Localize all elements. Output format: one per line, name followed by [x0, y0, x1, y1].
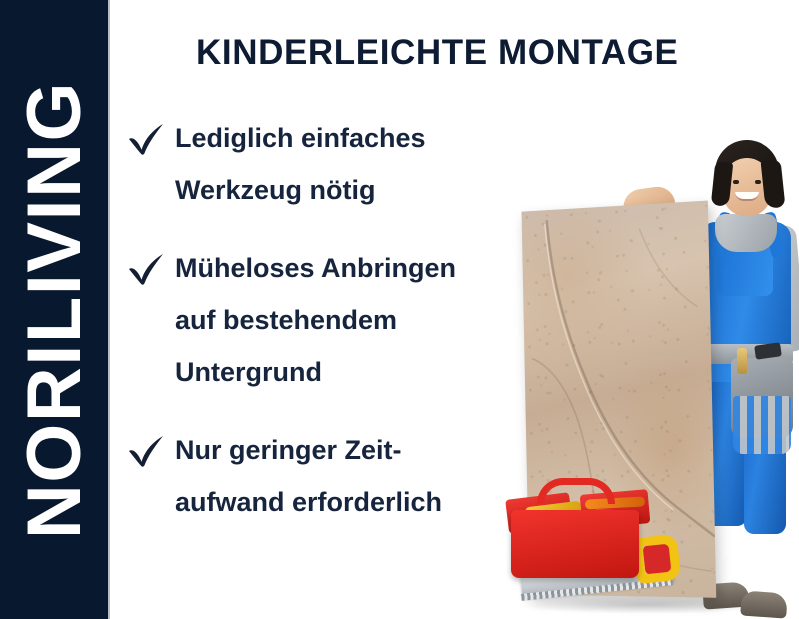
list-item-text: Lediglich einfaches Werkzeug nötig [168, 112, 484, 216]
feature-list: Lediglich einfaches Werkzeug nötig Mühel… [124, 112, 484, 554]
toolbox-handle [537, 478, 615, 504]
tool-pouch-stripes [733, 396, 791, 454]
brand-name-vertical: NORILIVING [17, 80, 93, 538]
list-item-text: Müheloses Anbringen auf bestehendem Unte… [168, 242, 484, 398]
list-item-line: Untergrund [175, 346, 484, 398]
product-photo [495, 96, 799, 619]
list-item-line: Lediglich einfaches [175, 112, 484, 164]
list-item-line: Werkzeug nötig [175, 164, 484, 216]
eye [755, 180, 761, 184]
shirt-collar [715, 214, 777, 252]
eye [733, 180, 739, 184]
list-item: Nur geringer Zeit- aufwand erforderlich [124, 424, 484, 528]
list-item-line: aufwand erforderlich [175, 476, 484, 528]
red-toolbox [511, 510, 639, 578]
list-item-text: Nur geringer Zeit- aufwand erforderlich [168, 424, 484, 528]
list-item-line: Müheloses Anbringen [175, 242, 484, 294]
list-item: Müheloses Anbringen auf bestehendem Unte… [124, 242, 484, 398]
hand-saw-handle [633, 534, 682, 584]
brand-sidebar-inner: NORILIVING [0, 0, 110, 619]
checkmark-icon [124, 116, 168, 160]
tool-set [507, 464, 697, 619]
brand-sidebar: NORILIVING [0, 0, 110, 619]
list-item-line: auf bestehendem [175, 294, 484, 346]
list-item: Lediglich einfaches Werkzeug nötig [124, 112, 484, 216]
promo-banner: NORILIVING KINDERLEICHTE MONTAGE Ledigli… [0, 0, 799, 619]
checkmark-icon [124, 428, 168, 472]
checkmark-icon [124, 246, 168, 290]
list-item-line: Nur geringer Zeit- [175, 424, 484, 476]
belt-tool [737, 348, 747, 374]
page-title: KINDERLEICHTE MONTAGE [196, 33, 679, 73]
work-shoe [740, 590, 788, 618]
